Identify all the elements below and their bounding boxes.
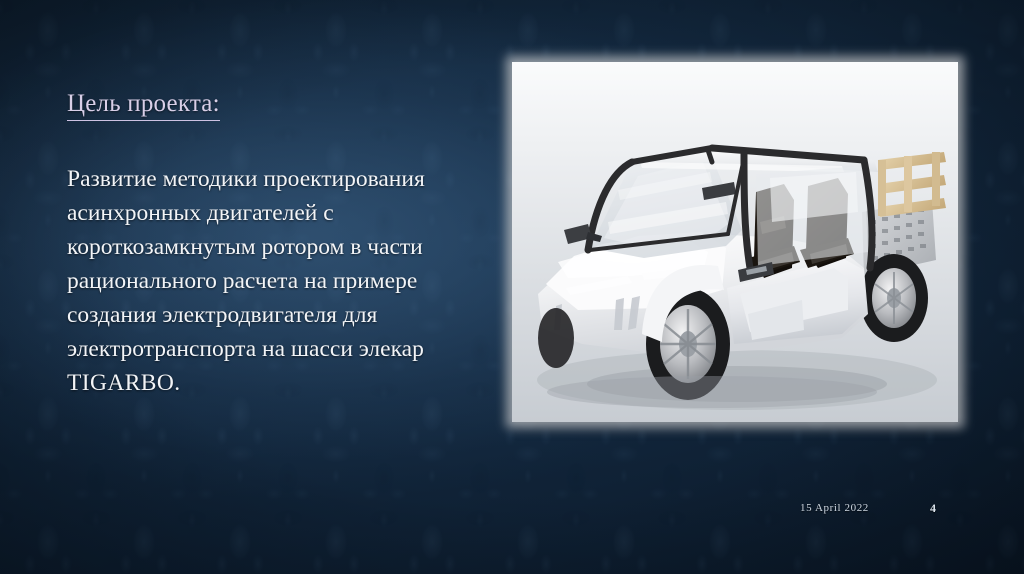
body-brand-name: TIGARBO. bbox=[67, 370, 181, 396]
presentation-slide: Цель проекта: Развитие методики проектир… bbox=[0, 0, 1024, 574]
footer-page-number: 4 bbox=[930, 501, 936, 516]
cargo-wood-rails bbox=[878, 152, 946, 217]
slide-title: Цель проекта: bbox=[67, 90, 220, 118]
slide-body-text: Развитие методики проектирования асинхро… bbox=[67, 162, 497, 400]
vehicle-illustration bbox=[512, 62, 958, 422]
slide-image-frame bbox=[512, 62, 958, 422]
slide-title-text: Цель проекта: bbox=[67, 90, 220, 121]
footer-date: 15 April 2022 bbox=[800, 502, 869, 514]
body-line-7: электротранспорта на шасси элекар bbox=[67, 336, 424, 362]
body-line-6: электродвигателя для bbox=[162, 302, 377, 328]
body-line-1: Развитие методики bbox=[67, 166, 257, 192]
vehicle-photo bbox=[512, 62, 958, 422]
